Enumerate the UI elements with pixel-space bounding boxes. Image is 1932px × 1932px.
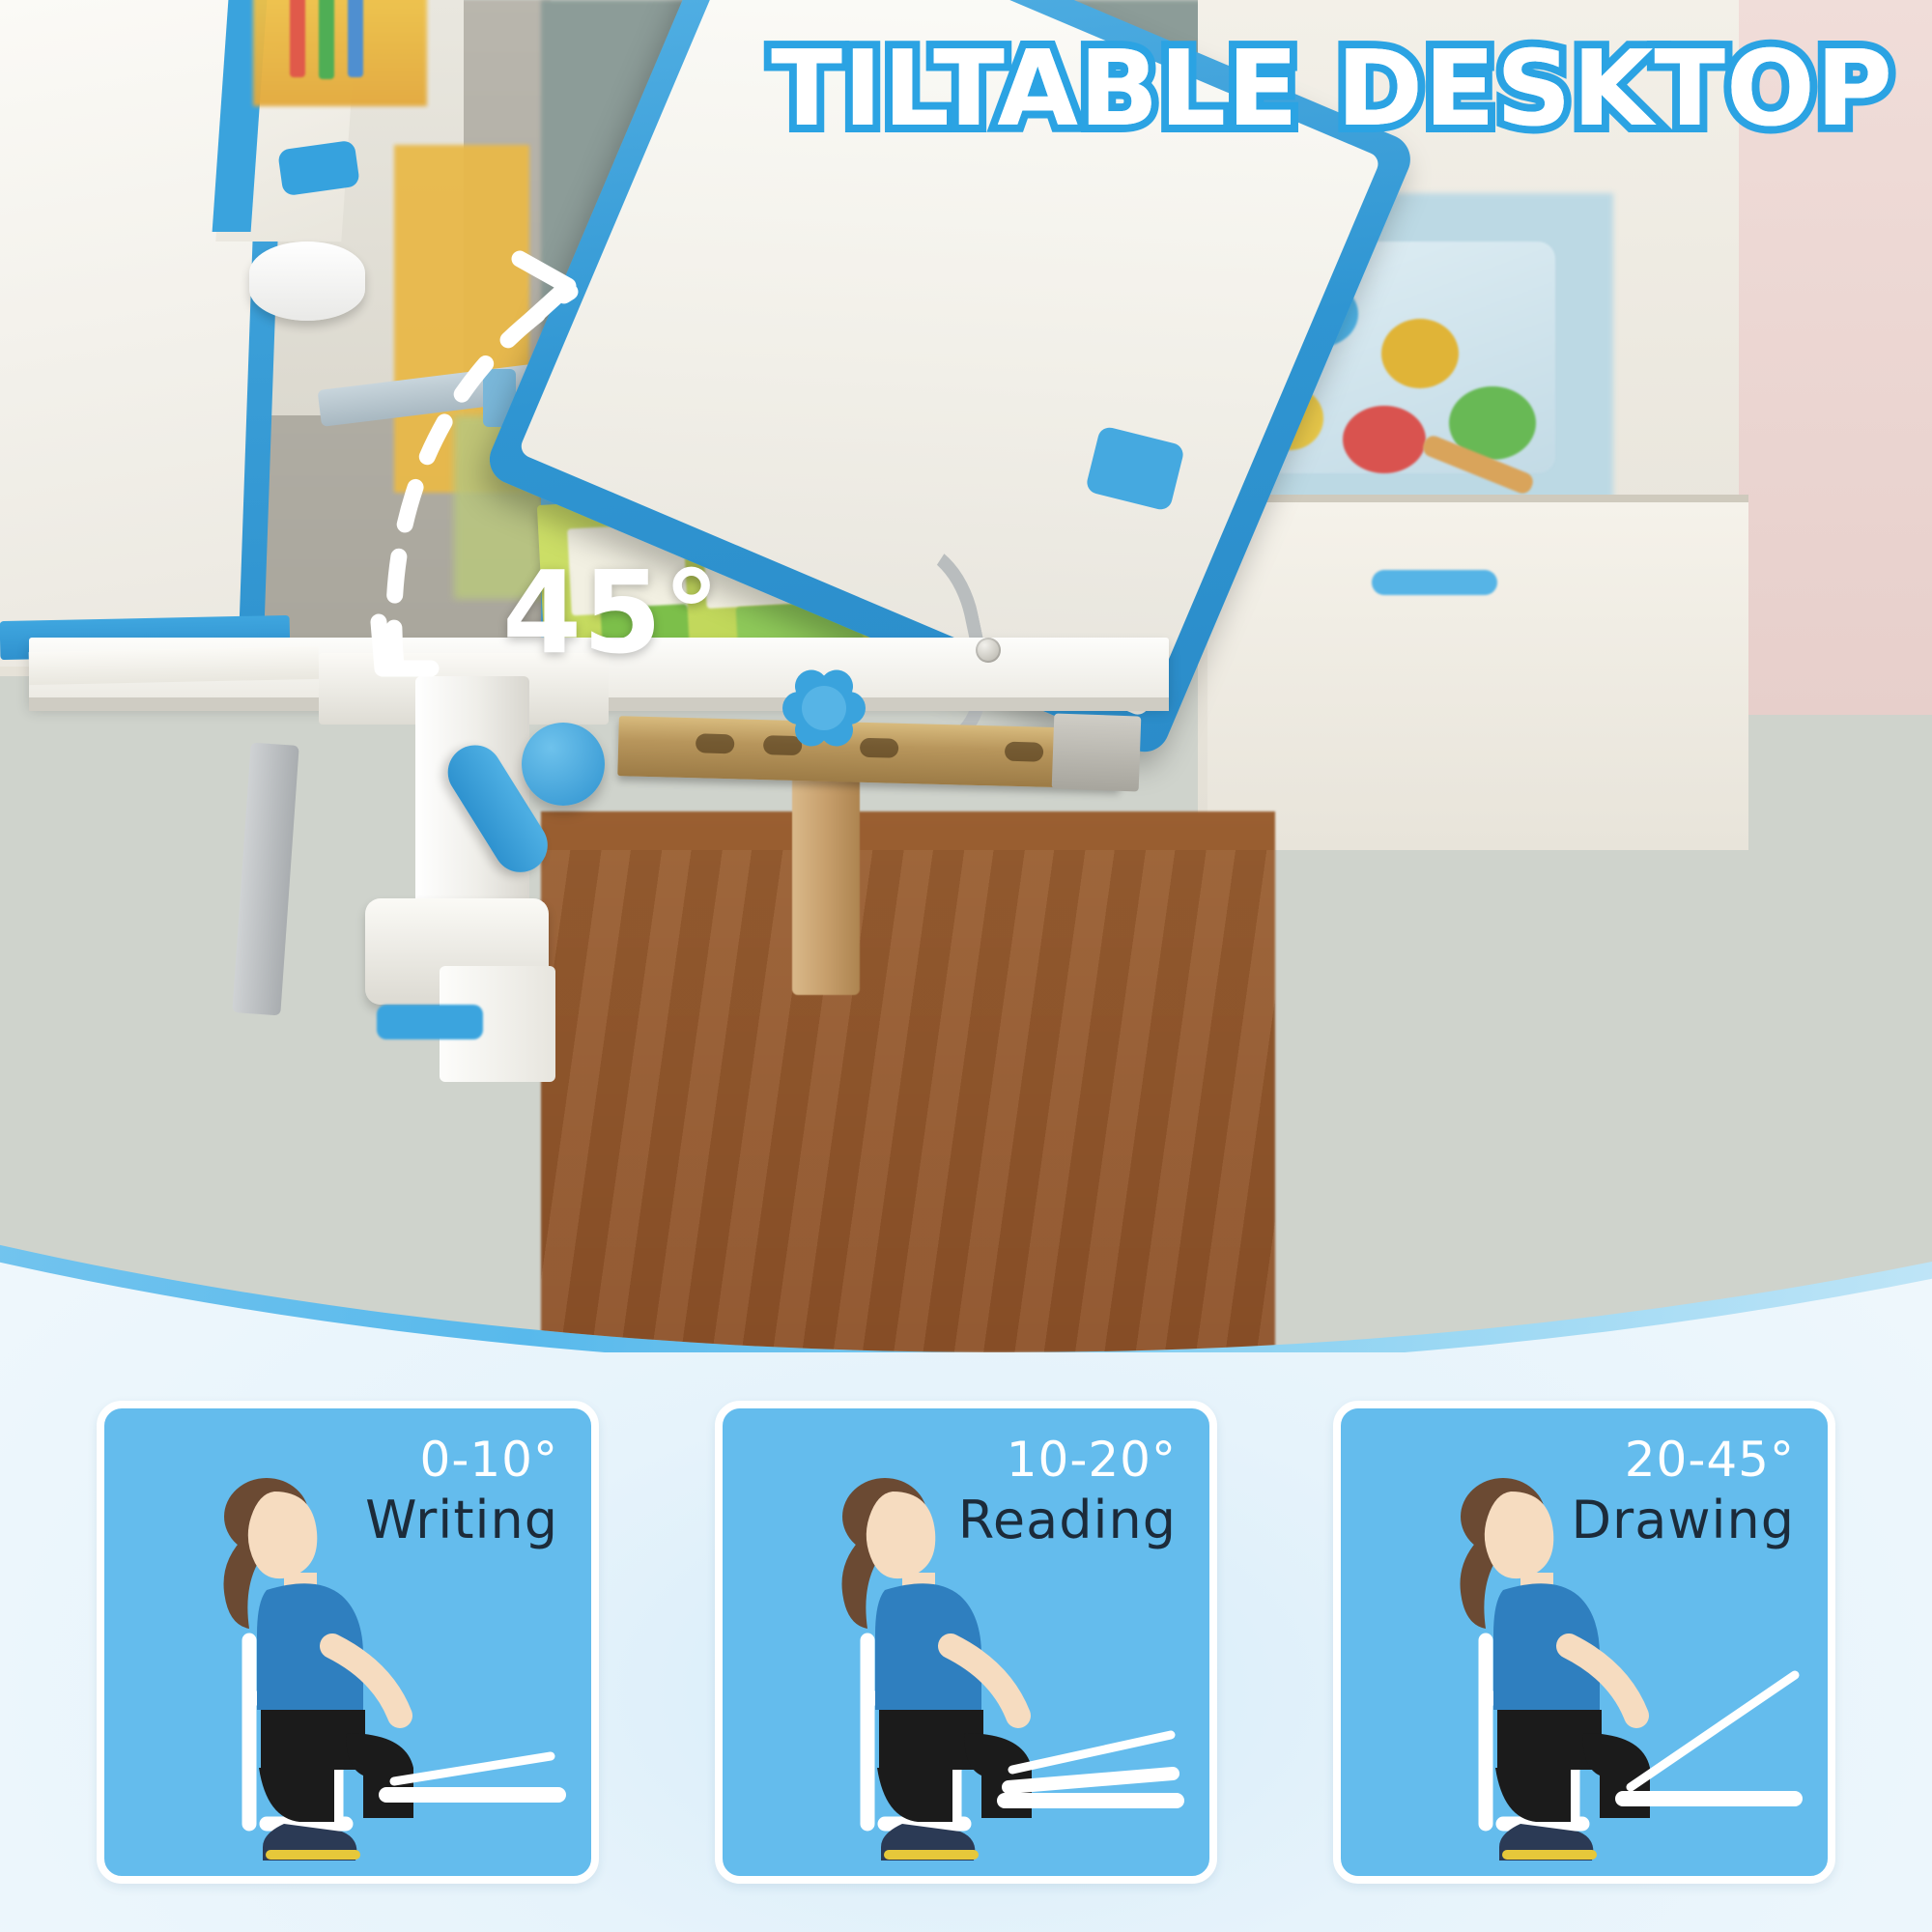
usage-modes-panel-row: 0-10° Writing [0, 1377, 1932, 1932]
usage-mode-panel-reading[interactable]: 10-20° Reading [715, 1401, 1217, 1884]
panel-activity-label: Reading [958, 1490, 1177, 1550]
panel-activity-label: Writing [365, 1490, 558, 1550]
usage-mode-panel-drawing[interactable]: 20-45° Drawing [1333, 1401, 1835, 1884]
drawer-slide-rail [617, 716, 1121, 789]
cabinet-handle [1372, 570, 1497, 595]
page-title: TILTABLE DESKTOP [0, 29, 1893, 150]
hero-photo-clip: 45° [0, 0, 1932, 1352]
arrow-head-icon [520, 259, 568, 323]
flower-tightening-knob [782, 667, 866, 750]
panel-angle-label: 20-45° [1625, 1432, 1795, 1488]
knob-core [802, 686, 846, 730]
frame-leg [232, 743, 298, 1016]
panel-angle-label: 0-10° [420, 1432, 558, 1488]
desk-left-white-strip [29, 646, 320, 685]
furniture-wooden-leg [792, 763, 860, 995]
rail-end-cap [1052, 713, 1142, 791]
usage-mode-panel-writing[interactable]: 0-10° Writing [97, 1401, 599, 1884]
crank-knob [522, 723, 605, 806]
hero-photo-region: 45° [0, 0, 1932, 1352]
wood-floor-grain [541, 850, 1275, 1352]
screw-icon [976, 638, 1001, 663]
product-photo: 45° [0, 0, 1932, 1352]
toy-blob [1381, 319, 1459, 388]
cabinet-front [1207, 502, 1748, 850]
panel-activity-label: Drawing [1571, 1490, 1795, 1550]
rail-hole [1005, 742, 1044, 762]
rail-hole [696, 733, 735, 753]
toy-blob [1343, 406, 1426, 473]
lower-blue-tab [377, 1005, 483, 1039]
product-feature-graphic: 45° TILTABLE DESKTOP [0, 0, 1932, 1932]
angle-label-45: 45° [502, 555, 721, 669]
arc-corner-icon [379, 622, 431, 668]
panel-angle-label: 10-20° [1007, 1432, 1177, 1488]
